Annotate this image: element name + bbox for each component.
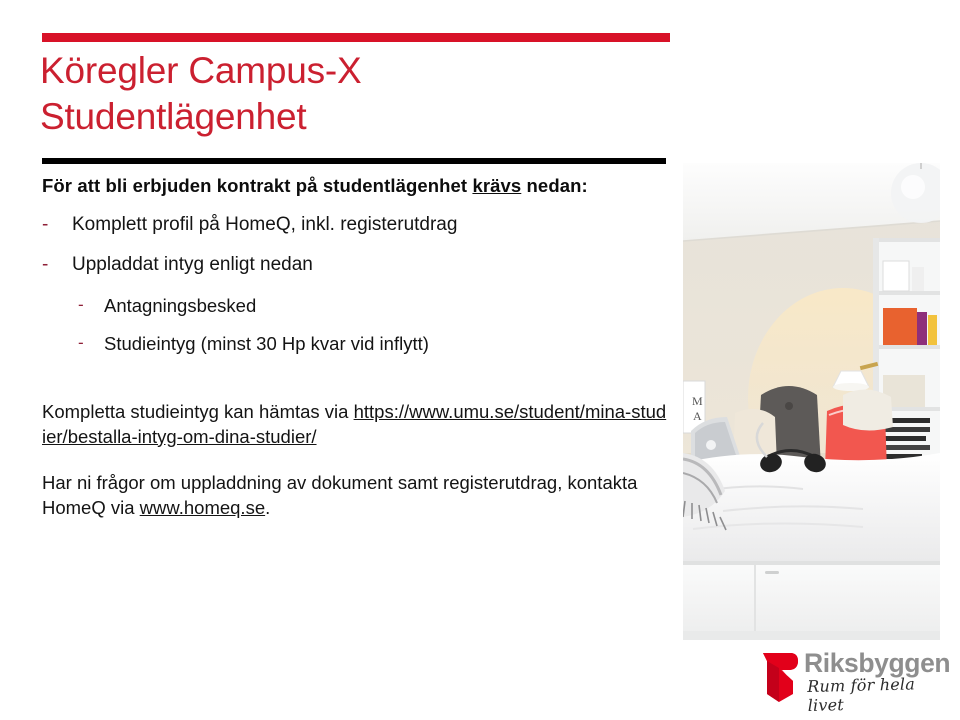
requirements-list: - Komplett profil på HomeQ, inkl. regist… bbox=[42, 213, 667, 356]
lead-text-part-1: För att bli erbjuden kontrakt på student… bbox=[42, 175, 472, 196]
slide-canvas: Köregler Campus-X Studentlägenhet För at… bbox=[0, 0, 960, 720]
paragraph-text: Kompletta studieintyg kan hämtas via bbox=[42, 401, 354, 422]
title-divider-rule bbox=[42, 158, 666, 164]
body-content: För att bli erbjuden kontrakt på student… bbox=[42, 174, 667, 520]
apartment-photo: M A bbox=[683, 163, 940, 640]
top-red-rule bbox=[42, 33, 670, 42]
list-item-label: Studieintyg (minst 30 Hp kvar vid inflyt… bbox=[104, 332, 429, 356]
paragraph-tail: . bbox=[265, 497, 270, 518]
bullet-dash-icon: - bbox=[42, 253, 72, 278]
bullet-dash-icon: - bbox=[78, 294, 104, 316]
list-item: - Studieintyg (minst 30 Hp kvar vid infl… bbox=[78, 332, 667, 356]
bullet-dash-icon: - bbox=[78, 332, 104, 354]
page-title: Köregler Campus-X Studentlägenhet bbox=[40, 48, 680, 140]
svg-text:M: M bbox=[692, 394, 703, 408]
homeq-link[interactable]: www.homeq.se bbox=[140, 497, 265, 518]
bullet-dash-icon: - bbox=[42, 213, 72, 238]
riksbyggen-tagline: Rum för hela livet bbox=[807, 673, 953, 715]
list-item: - Uppladdat intyg enligt nedan bbox=[42, 253, 667, 278]
list-item-label: Komplett profil på HomeQ, inkl. register… bbox=[72, 213, 457, 238]
riksbyggen-flag-icon bbox=[760, 650, 804, 706]
list-item: - Antagningsbesked bbox=[78, 294, 667, 318]
info-paragraphs: Kompletta studieintyg kan hämtas via htt… bbox=[42, 400, 667, 520]
riksbyggen-logo: Riksbyggen Rum för hela livet bbox=[760, 648, 952, 708]
apartment-photo-illustration: M A bbox=[683, 163, 940, 640]
lead-paragraph: För att bli erbjuden kontrakt på student… bbox=[42, 174, 667, 199]
list-item-label: Antagningsbesked bbox=[104, 294, 256, 318]
lead-text-part-2: nedan: bbox=[521, 175, 587, 196]
paragraph-studieintyg: Kompletta studieintyg kan hämtas via htt… bbox=[42, 400, 667, 449]
list-item-label: Uppladdat intyg enligt nedan bbox=[72, 253, 313, 278]
lead-text-underlined: krävs bbox=[472, 175, 521, 196]
paragraph-kontakt: Har ni frågor om uppladdning av dokument… bbox=[42, 471, 667, 520]
list-item: - Komplett profil på HomeQ, inkl. regist… bbox=[42, 213, 667, 238]
paragraph-text: Har ni frågor om uppladdning av dokument… bbox=[42, 472, 637, 518]
svg-text:A: A bbox=[693, 409, 702, 423]
